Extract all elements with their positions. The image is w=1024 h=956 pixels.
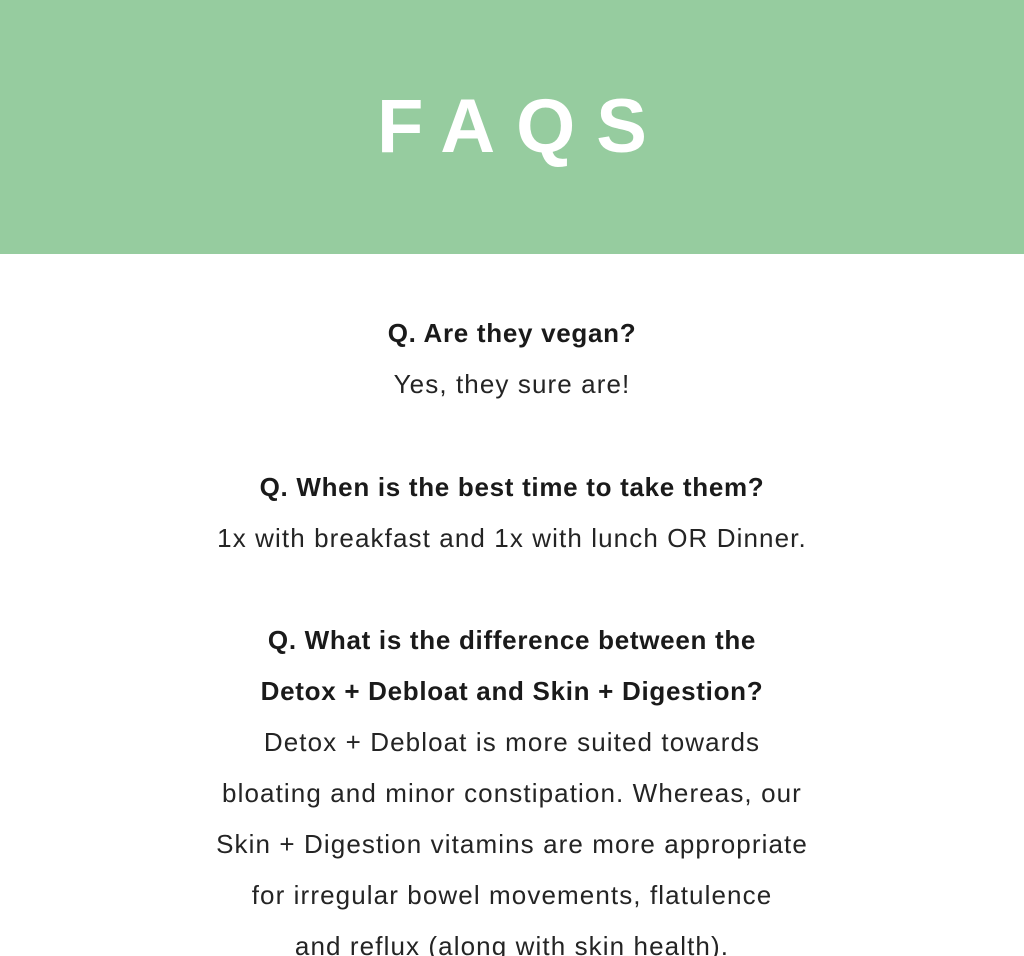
faq-answer: Detox + Debloat is more suited towards b… — [0, 717, 1024, 956]
header-banner: FAQS — [0, 0, 1024, 254]
page-title: FAQS — [356, 89, 668, 165]
faq-list: Q. Are they vegan? Yes, they sure are! Q… — [0, 308, 1024, 956]
faq-page: FAQS Q. Are they vegan? Yes, they sure a… — [0, 0, 1024, 956]
faq-item: Q. What is the difference between the De… — [0, 615, 1024, 956]
faq-answer: Yes, they sure are! — [0, 359, 1024, 410]
faq-content-area: Q. Are they vegan? Yes, they sure are! Q… — [0, 254, 1024, 956]
faq-question: Q. When is the best time to take them? — [0, 462, 1024, 513]
faq-item: Q. Are they vegan? Yes, they sure are! — [0, 308, 1024, 410]
faq-item: Q. When is the best time to take them? 1… — [0, 462, 1024, 564]
faq-answer: 1x with breakfast and 1x with lunch OR D… — [0, 513, 1024, 564]
faq-question: Q. What is the difference between the De… — [0, 615, 1024, 717]
faq-question: Q. Are they vegan? — [0, 308, 1024, 359]
